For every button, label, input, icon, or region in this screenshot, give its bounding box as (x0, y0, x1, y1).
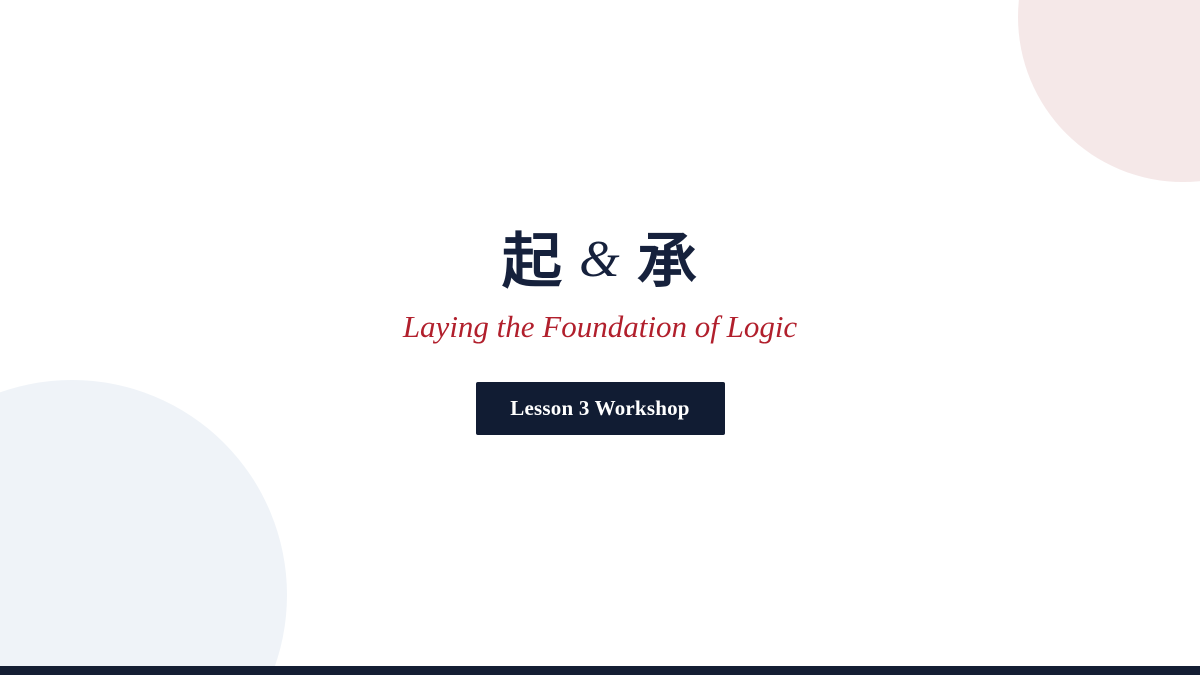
ampersand-icon: & (579, 234, 621, 286)
title-character-qi: 起 (502, 232, 563, 292)
page-subtitle: Laying the Foundation of Logic (403, 308, 797, 345)
slide-content: 起 & 承 Laying the Foundation of Logic Les… (0, 0, 1200, 667)
title-character-cheng: 承 (637, 232, 698, 292)
lesson-workshop-button[interactable]: Lesson 3 Workshop (476, 382, 725, 435)
title-slide: 起 & 承 Laying the Foundation of Logic Les… (0, 0, 1200, 675)
bottom-accent-bar (0, 666, 1200, 675)
page-title: 起 & 承 (502, 232, 698, 292)
